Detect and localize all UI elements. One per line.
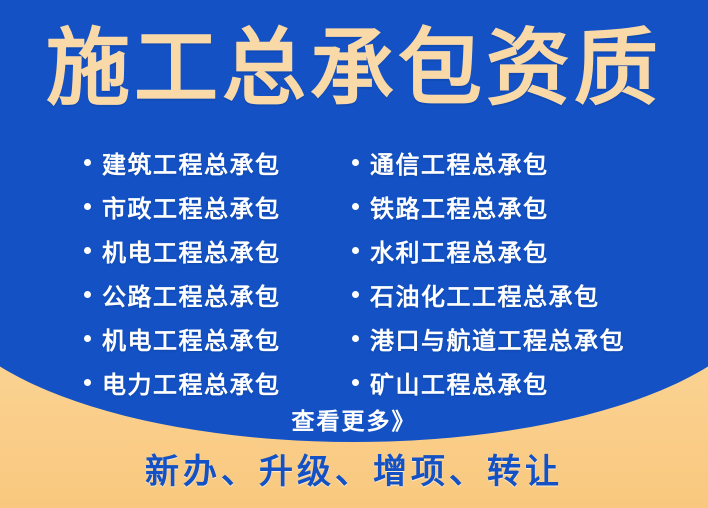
list-item-label: 通信工程总承包	[370, 145, 549, 180]
list-item[interactable]: 通信工程总承包	[352, 140, 682, 184]
bullet-dot-icon	[352, 291, 359, 298]
list-item[interactable]: 市政工程总承包	[84, 184, 346, 228]
bullet-dot-icon	[352, 247, 359, 254]
list-item[interactable]: 电力工程总承包	[84, 360, 346, 404]
qualification-column-right: 通信工程总承包 铁路工程总承包 水利工程总承包 石油化工工程总承包 港口与航道工…	[352, 140, 682, 404]
list-item-label: 公路工程总承包	[102, 277, 281, 312]
list-item-label: 建筑工程总承包	[102, 145, 281, 180]
list-item-label: 矿山工程总承包	[370, 365, 549, 400]
list-item[interactable]: 铁路工程总承包	[352, 184, 682, 228]
list-item[interactable]: 机电工程总承包	[84, 228, 346, 272]
list-item-label: 水利工程总承包	[370, 233, 549, 268]
list-item-label: 铁路工程总承包	[370, 189, 549, 224]
list-item[interactable]: 公路工程总承包	[84, 272, 346, 316]
bullet-dot-icon	[352, 379, 359, 386]
bullet-dot-icon	[352, 203, 359, 210]
bullet-dot-icon	[84, 159, 91, 166]
list-item-label: 电力工程总承包	[102, 365, 281, 400]
list-item-label: 石油化工工程总承包	[370, 277, 600, 312]
list-item[interactable]: 机电工程总承包	[84, 316, 346, 360]
qualification-column-left: 建筑工程总承包 市政工程总承包 机电工程总承包 公路工程总承包 机电工程总承包 …	[84, 140, 346, 404]
bullet-dot-icon	[352, 159, 359, 166]
list-item-label: 机电工程总承包	[102, 321, 281, 356]
bullet-dot-icon	[84, 335, 91, 342]
bullet-dot-icon	[84, 247, 91, 254]
bullet-dot-icon	[84, 379, 91, 386]
list-item[interactable]: 港口与航道工程总承包	[352, 316, 682, 360]
qualification-lists: 建筑工程总承包 市政工程总承包 机电工程总承包 公路工程总承包 机电工程总承包 …	[0, 140, 708, 404]
bullet-dot-icon	[84, 203, 91, 210]
list-item-label: 港口与航道工程总承包	[370, 321, 625, 356]
bullet-dot-icon	[352, 335, 359, 342]
poster-root: 施工总承包资质 建筑工程总承包 市政工程总承包 机电工程总承包 公路工程总承包 …	[0, 0, 708, 508]
list-item[interactable]: 水利工程总承包	[352, 228, 682, 272]
bullet-dot-icon	[84, 291, 91, 298]
list-item[interactable]: 石油化工工程总承包	[352, 272, 682, 316]
list-item-label: 市政工程总承包	[102, 189, 281, 224]
services-tagline: 新办、升级、增项、转让	[0, 444, 708, 493]
list-item-label: 机电工程总承包	[102, 233, 281, 268]
list-item[interactable]: 建筑工程总承包	[84, 140, 346, 184]
view-more-link[interactable]: 查看更多》	[0, 402, 708, 436]
page-title: 施工总承包资质	[0, 22, 708, 114]
list-item[interactable]: 矿山工程总承包	[352, 360, 682, 404]
